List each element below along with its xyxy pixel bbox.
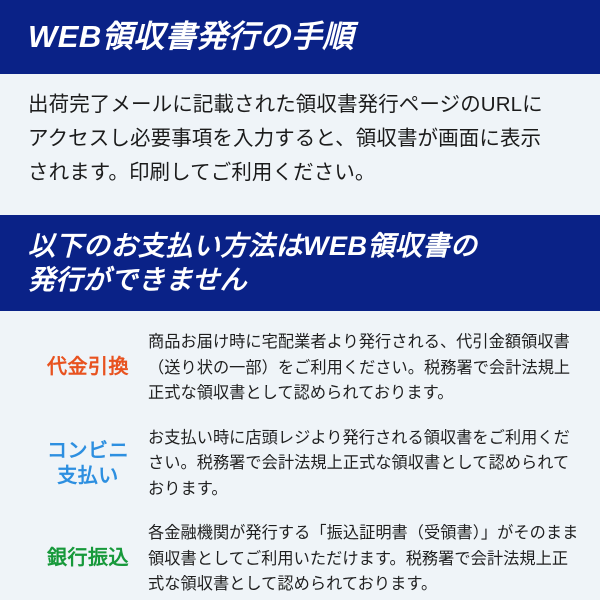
secondary-banner-title: 以下のお支払い方法はWEB領収書の 発行ができません: [28, 229, 600, 297]
payment-method-label-convenience-store: コンビニ 支払い: [28, 425, 148, 489]
secondary-banner: 以下のお支払い方法はWEB領収書の 発行ができません: [0, 215, 600, 311]
desc-line-3: 正式な領収書として認められております。: [148, 381, 590, 407]
page-title: WEB領収書発行の手順: [28, 20, 600, 54]
payment-method-row-bank-transfer: 銀行振込 各金融機関が発行する「振込証明書（受領書）」がそのまま 領収書としてご…: [0, 520, 600, 598]
desc-line-1: 商品お届け時に宅配業者より発行される、代引金額領収書: [148, 330, 590, 356]
intro-line-1: 出荷完了メールに記載された領収書発行ページのURLに: [28, 88, 576, 122]
desc-line-2: （送り状の一部）をご利用ください。税務署で会計法規上: [148, 356, 590, 382]
primary-banner: WEB領収書発行の手順: [0, 0, 600, 74]
payment-method-desc-bank-transfer: 各金融機関が発行する「振込証明書（受領書）」がそのまま 領収書としてご利用いただ…: [148, 520, 590, 598]
label-line-1: コンビニ: [28, 439, 148, 464]
label-line-1: 代金引換: [28, 355, 148, 380]
label-line-1: 銀行振込: [28, 546, 148, 571]
intro-line-3: されます。印刷してご利用ください。: [28, 156, 576, 190]
secondary-banner-line-1: 以下のお支払い方法はWEB領収書の: [28, 229, 600, 263]
desc-line-1: お支払い時に店頭レジより発行される領収書をご利用くだ: [148, 426, 590, 452]
desc-line-3: おります。: [148, 477, 590, 503]
desc-line-2: 領収書としてご利用いただけます。税務署で会計法規上正: [148, 547, 590, 573]
receipt-guide-page: WEB領収書発行の手順 出荷完了メールに記載された領収書発行ページのURLに ア…: [0, 0, 600, 600]
payment-method-label-bank-transfer: 銀行振込: [28, 520, 148, 571]
payment-method-label-cash-on-delivery: 代金引換: [28, 329, 148, 380]
intro-line-2: アクセスし必要事項を入力すると、領収書が画面に表示: [28, 122, 576, 156]
payment-method-desc-convenience-store: お支払い時に店頭レジより発行される領収書をご利用くだ さい。税務署で会計法規上正…: [148, 425, 590, 503]
label-line-2: 支払い: [28, 464, 148, 489]
payment-method-desc-cash-on-delivery: 商品お届け時に宅配業者より発行される、代引金額領収書 （送り状の一部）をご利用く…: [148, 329, 590, 407]
desc-line-3: 式な領収書として認められております。: [148, 572, 590, 598]
payment-method-list: 代金引換 商品お届け時に宅配業者より発行される、代引金額領収書 （送り状の一部）…: [0, 311, 600, 598]
desc-line-1: 各金融機関が発行する「振込証明書（受領書）」がそのまま: [148, 521, 590, 547]
intro-paragraph: 出荷完了メールに記載された領収書発行ページのURLに アクセスし必要事項を入力す…: [0, 74, 600, 190]
secondary-banner-line-2: 発行ができません: [28, 263, 600, 297]
payment-method-row-cash-on-delivery: 代金引換 商品お届け時に宅配業者より発行される、代引金額領収書 （送り状の一部）…: [0, 329, 600, 407]
desc-line-2: さい。税務署で会計法規上正式な領収書として認められて: [148, 451, 590, 477]
payment-method-row-convenience-store: コンビニ 支払い お支払い時に店頭レジより発行される領収書をご利用くだ さい。税…: [0, 425, 600, 503]
